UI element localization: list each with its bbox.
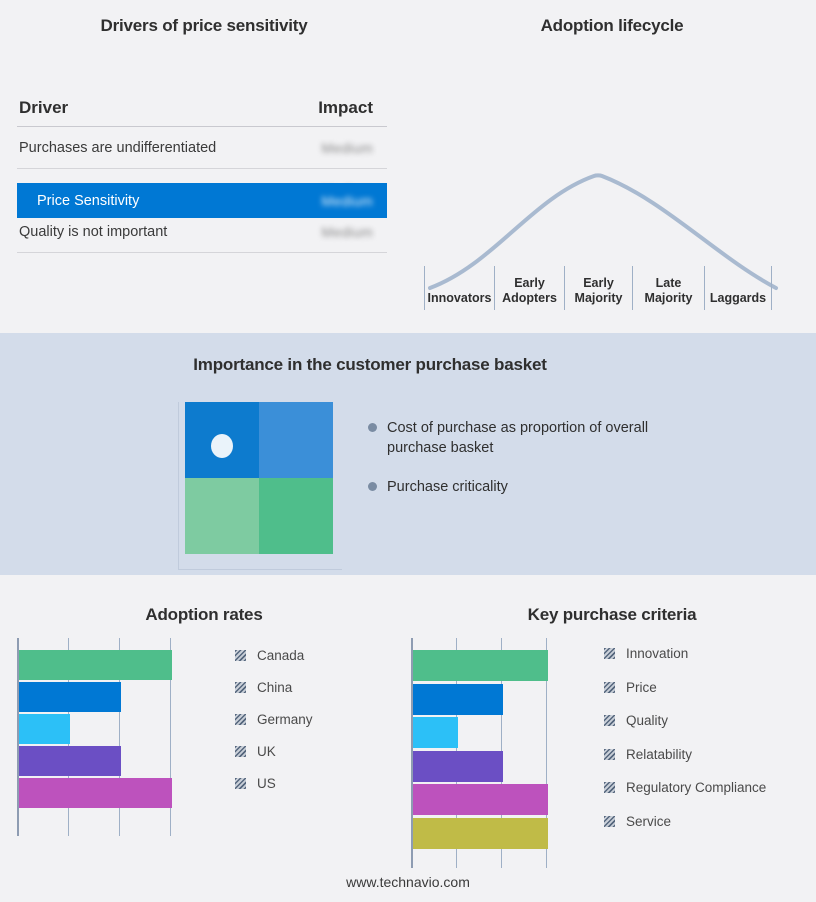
key-purchase-criteria-panel: Key purchase criteria InnovationPriceQua…: [408, 575, 816, 902]
legend-label: Innovation: [626, 646, 688, 661]
lifecycle-chart: Innovators Early Adopters Early Majority…: [424, 78, 802, 310]
bar-quality[interactable]: [413, 717, 458, 748]
bar-us[interactable]: [19, 778, 172, 808]
hatch-swatch-icon: [235, 746, 246, 757]
lifecycle-stage-early-adopters: Early Adopters: [494, 266, 564, 310]
hatch-swatch-icon: [604, 682, 615, 693]
legend-label: Germany: [257, 712, 313, 727]
basket-legend: Cost of purchase as proportion of overal…: [368, 418, 668, 516]
legend-item[interactable]: Price: [604, 671, 804, 705]
drivers-panel: Drivers of price sensitivity Driver Impa…: [0, 0, 408, 330]
hatch-swatch-icon: [235, 778, 246, 789]
legend-item[interactable]: Relatability: [604, 738, 804, 772]
legend-label: Regulatory Compliance: [626, 780, 766, 795]
lifecycle-stage-laggards: Laggards: [704, 266, 772, 310]
legend-item[interactable]: Canada: [235, 639, 385, 671]
key-criteria-title: Key purchase criteria: [408, 605, 816, 625]
legend-label: Cost of purchase as proportion of overal…: [387, 418, 668, 458]
adoption-lifecycle-panel: Adoption lifecycle Innovators Early Adop…: [408, 0, 816, 330]
stage-line2: Adopters: [502, 291, 557, 306]
hatch-swatch-icon: [604, 816, 615, 827]
lifecycle-stage-innovators: Innovators: [424, 266, 494, 310]
bar-innovation[interactable]: [413, 650, 548, 681]
legend-item[interactable]: UK: [235, 735, 385, 767]
adoption-rates-title: Adoption rates: [0, 605, 408, 625]
legend-label: US: [257, 776, 276, 791]
impact-value: Medium: [321, 140, 387, 156]
lifecycle-stage-early-majority: Early Majority: [564, 266, 632, 310]
legend-item[interactable]: Innovation: [604, 637, 804, 671]
bar-china[interactable]: [19, 682, 121, 712]
driver-label: Quality is not important: [17, 224, 167, 240]
basket-title: Importance in the customer purchase bask…: [0, 355, 740, 375]
legend-item[interactable]: Quality: [604, 704, 804, 738]
hatch-swatch-icon: [604, 749, 615, 760]
lifecycle-stage-late-majority: Late Majority: [632, 266, 704, 310]
bar-service[interactable]: [413, 818, 548, 849]
column-header-impact: Impact: [318, 98, 387, 118]
driver-label: Purchases are undifferentiated: [17, 140, 216, 156]
impact-value: Medium: [321, 224, 387, 240]
hatch-swatch-icon: [235, 650, 246, 661]
bar-uk[interactable]: [19, 746, 121, 776]
quadrant-bottom-right: [259, 478, 333, 554]
stage-line1: Early: [514, 276, 545, 291]
hatch-swatch-icon: [604, 715, 615, 726]
legend-label: Relatability: [626, 747, 692, 762]
legend-item[interactable]: Regulatory Compliance: [604, 771, 804, 805]
legend-item: Cost of purchase as proportion of overal…: [368, 418, 668, 458]
stage-line1: Early: [583, 276, 614, 291]
quadrant-top-left: [185, 402, 259, 478]
legend-label: Purchase criticality: [387, 477, 508, 497]
price-sensitivity-highlight-row[interactable]: Price Sensitivity Medium: [17, 183, 387, 218]
legend-item[interactable]: US: [235, 767, 385, 799]
legend-label: Canada: [257, 648, 304, 663]
stage-line2: Majority: [645, 291, 693, 306]
highlight-impact-value: Medium: [321, 193, 373, 209]
bar-relatability[interactable]: [413, 751, 503, 782]
highlight-driver-label: Price Sensitivity: [37, 193, 139, 209]
bar-price[interactable]: [413, 684, 503, 715]
bullet-dot-icon: [368, 423, 377, 432]
drivers-table: Driver Impact Purchases are undifferenti…: [17, 90, 387, 253]
hatch-swatch-icon: [604, 648, 615, 659]
quadrant-top-right: [259, 402, 333, 478]
quadrant-bottom-left: [185, 478, 259, 554]
bar-canada[interactable]: [19, 650, 172, 680]
lifecycle-title: Adoption lifecycle: [408, 16, 816, 36]
stage-line1: Late: [656, 276, 682, 291]
adoption-rates-chart: [17, 638, 227, 836]
stage-line2: Laggards: [710, 291, 766, 306]
legend-item[interactable]: Service: [604, 805, 804, 839]
legend-label: UK: [257, 744, 276, 759]
drivers-title: Drivers of price sensitivity: [0, 16, 408, 36]
bar-germany[interactable]: [19, 714, 70, 744]
footer-url: www.technavio.com: [0, 874, 816, 890]
quadrant-chart: [185, 402, 333, 554]
key-criteria-legend: InnovationPriceQualityRelatabilityRegula…: [604, 637, 804, 838]
column-header-driver: Driver: [17, 98, 68, 118]
table-row[interactable]: Purchases are undifferentiated Medium: [17, 127, 387, 169]
legend-label: Price: [626, 680, 657, 695]
legend-label: Quality: [626, 713, 668, 728]
legend-item: Purchase criticality: [368, 477, 668, 497]
hatch-swatch-icon: [235, 714, 246, 725]
stage-line2: Innovators: [428, 291, 492, 306]
hatch-swatch-icon: [604, 782, 615, 793]
key-criteria-chart: [411, 638, 593, 868]
legend-item[interactable]: China: [235, 671, 385, 703]
bullet-dot-icon: [368, 482, 377, 491]
quadrant-marker-dot: [211, 434, 233, 458]
legend-label: China: [257, 680, 292, 695]
adoption-rates-legend: CanadaChinaGermanyUKUS: [235, 639, 385, 799]
bar-regulatory-compliance[interactable]: [413, 784, 548, 815]
lifecycle-stage-labels: Innovators Early Adopters Early Majority…: [424, 266, 802, 310]
table-header-row: Driver Impact: [17, 90, 387, 127]
stage-line2: Majority: [575, 291, 623, 306]
legend-item[interactable]: Germany: [235, 703, 385, 735]
hatch-swatch-icon: [235, 682, 246, 693]
legend-label: Service: [626, 814, 671, 829]
adoption-rates-panel: Adoption rates CanadaChinaGermanyUKUS: [0, 575, 408, 902]
